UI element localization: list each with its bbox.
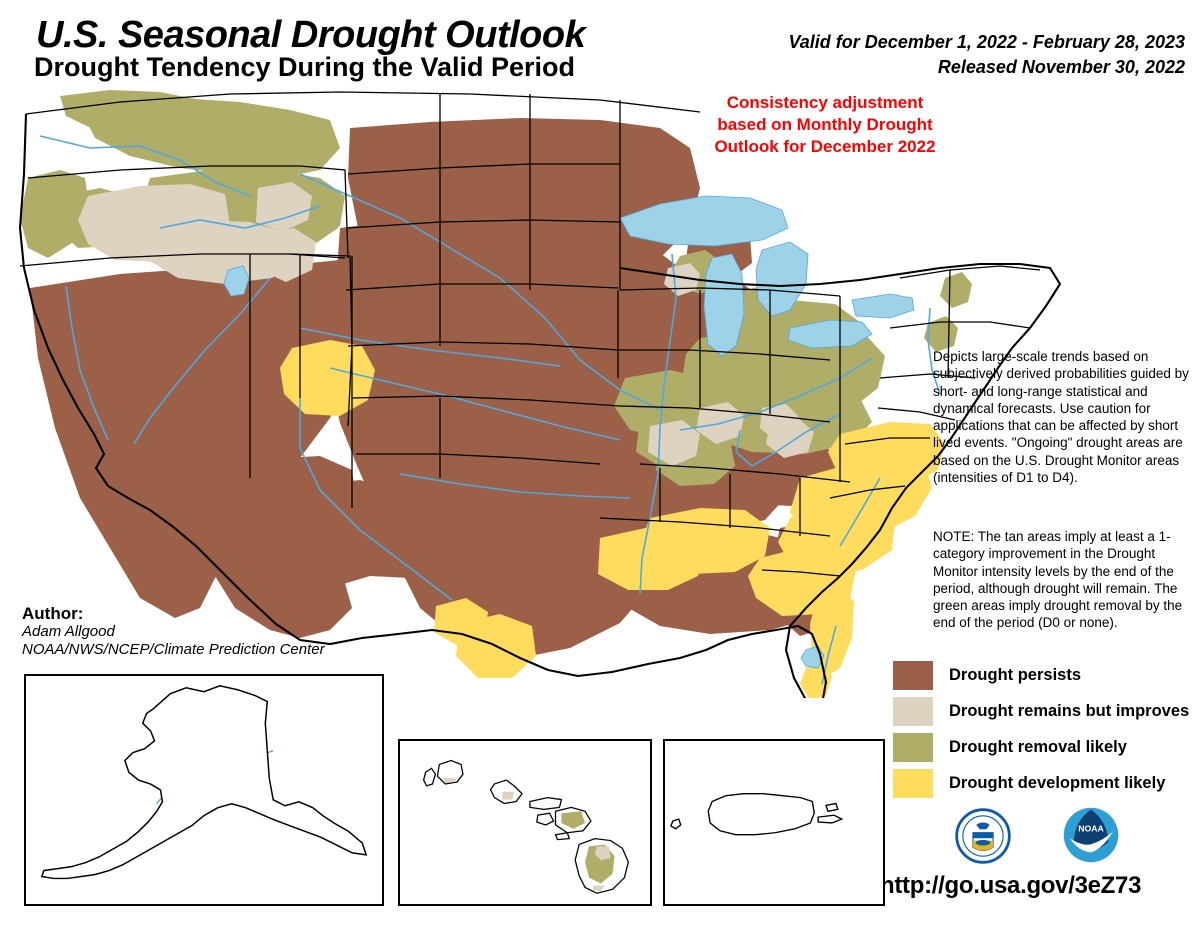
legend-item-removal[interactable]: Drought removal likely	[893, 731, 1189, 764]
hawaii-inset-map	[398, 739, 652, 906]
hawaii-islands	[424, 761, 629, 894]
alaska-inset-map	[24, 674, 384, 906]
island-culebra	[826, 803, 838, 811]
legend-swatch-development	[893, 769, 933, 798]
department-of-commerce-seal	[955, 808, 1011, 864]
cpc-url-link[interactable]: http://go.usa.gov/3eZ73	[880, 872, 1141, 900]
legend-label-removal: Drought removal likely	[949, 738, 1127, 757]
legend-swatch-removal	[893, 733, 933, 762]
legend-swatch-improves	[893, 697, 933, 726]
border-northeast-1	[900, 266, 1040, 278]
category-note: NOTE: The tan areas imply at least a 1-c…	[933, 528, 1195, 632]
valid-period-text: Valid for December 1, 2022 - February 28…	[788, 32, 1185, 53]
island-molokai	[530, 798, 561, 810]
alaska-mainland	[42, 686, 366, 879]
released-date-text: Released November 30, 2022	[938, 57, 1185, 78]
author-organization: NOAA/NWS/NCEP/Climate Prediction Center	[22, 641, 325, 658]
legend-label-persists: Drought persists	[949, 666, 1081, 685]
svg-text:NOAA: NOAA	[1078, 824, 1104, 834]
island-mona	[671, 819, 681, 829]
island-vieques	[818, 815, 842, 823]
author-label: Author:	[22, 604, 83, 624]
page-title: U.S. Seasonal Drought Outlook	[36, 14, 585, 57]
map-legend: Drought persists Drought remains but imp…	[893, 659, 1189, 803]
consistency-adjustment-note: Consistency adjustment based on Monthly …	[700, 92, 950, 158]
legend-label-improves: Drought remains but improves	[949, 702, 1189, 721]
author-name: Adam Allgood	[22, 623, 115, 640]
legend-label-development: Drought development likely	[949, 774, 1165, 793]
border-northeast-2	[890, 322, 1030, 328]
region-northeast-removal-1	[940, 272, 972, 308]
alaska-outline	[42, 686, 366, 879]
lake-ontario	[852, 294, 914, 318]
island-oahu-shade	[502, 792, 514, 800]
island-lanai	[537, 813, 554, 825]
legend-item-improves[interactable]: Drought remains but improves	[893, 695, 1189, 728]
methodology-description: Depicts large-scale trends based on subj…	[933, 348, 1195, 486]
legend-swatch-persists	[893, 661, 933, 690]
island-puerto-rico	[708, 794, 814, 835]
legend-item-development[interactable]: Drought development likely	[893, 767, 1189, 800]
puerto-rico-inset-map	[663, 739, 885, 906]
legend-item-persists[interactable]: Drought persists	[893, 659, 1189, 692]
island-niihau	[424, 768, 436, 786]
noaa-logo: NOAA	[1062, 806, 1120, 864]
puerto-rico-islands	[671, 794, 842, 835]
island-kahoolawe	[556, 833, 570, 840]
